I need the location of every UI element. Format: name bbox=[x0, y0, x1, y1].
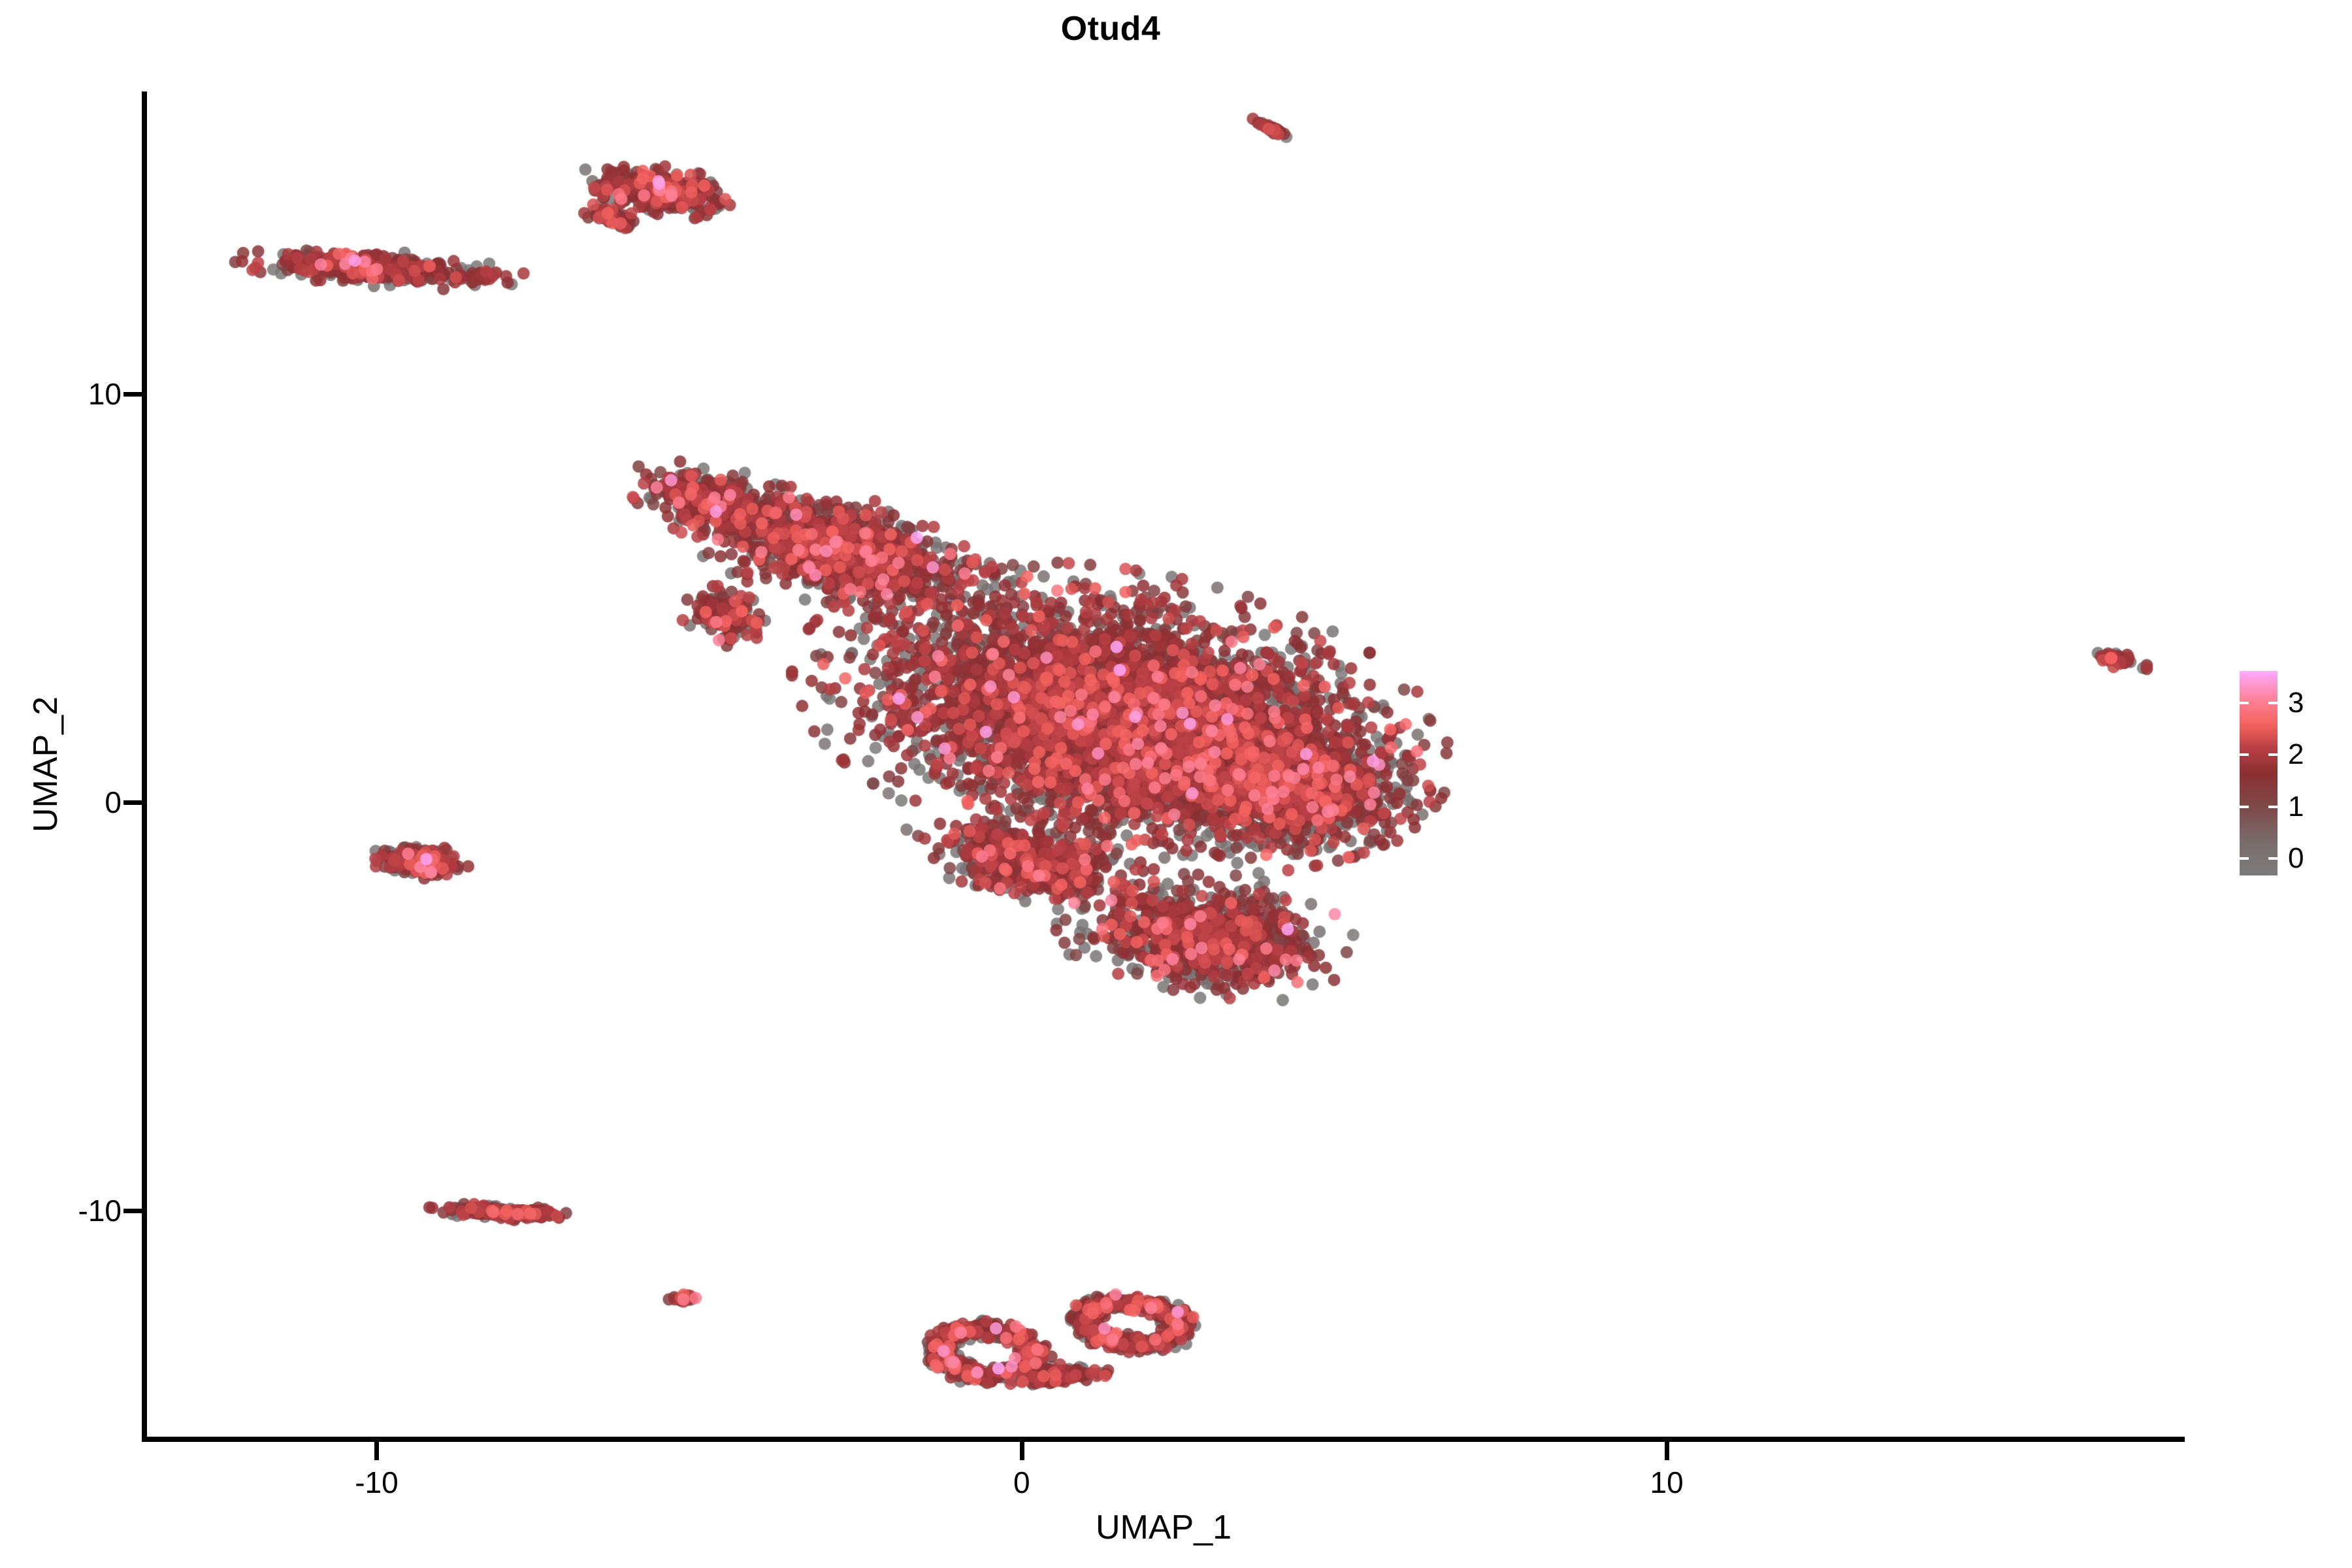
y-tick-label: 10 bbox=[88, 377, 122, 411]
colorbar-tick-mark bbox=[2240, 806, 2249, 808]
y-tick-label: 0 bbox=[105, 785, 122, 819]
scatter-points-layer bbox=[144, 91, 2183, 1439]
x-axis-line bbox=[142, 1437, 2185, 1442]
colorbar-tick-mark bbox=[2268, 857, 2278, 860]
x-tick-label: 10 bbox=[1650, 1465, 1684, 1499]
colorbar-tick-label: 0 bbox=[2288, 842, 2304, 875]
x-tick-mark bbox=[1020, 1442, 1024, 1460]
y-tick-mark bbox=[123, 800, 142, 805]
colorbar-legend: 0123 bbox=[2234, 666, 2345, 882]
y-tick-label: -10 bbox=[78, 1194, 122, 1228]
y-axis-line bbox=[142, 91, 147, 1442]
x-tick-label: 0 bbox=[1013, 1465, 1030, 1499]
colorbar-tick-mark bbox=[2268, 702, 2278, 704]
y-tick-mark bbox=[123, 1209, 142, 1213]
colorbar-tick-label: 1 bbox=[2288, 791, 2304, 823]
x-tick-mark bbox=[1665, 1442, 1669, 1460]
colorbar-tick-label: 3 bbox=[2288, 687, 2304, 719]
colorbar-tick-mark bbox=[2240, 857, 2249, 860]
colorbar-tick-mark bbox=[2240, 702, 2249, 704]
colorbar-tick-mark bbox=[2240, 753, 2249, 756]
x-tick-mark bbox=[374, 1442, 379, 1460]
umap-feature-plot: Otud4 -10010 -10010 UMAP_1 UMAP_2 0123 bbox=[0, 0, 2352, 1568]
colorbar-tick-mark bbox=[2268, 806, 2278, 808]
x-tick-label: -10 bbox=[355, 1465, 398, 1499]
plot-panel bbox=[144, 91, 2183, 1439]
colorbar-tick-label: 2 bbox=[2288, 738, 2304, 771]
x-axis-title: UMAP_1 bbox=[144, 1508, 2183, 1547]
colorbar-tick-mark bbox=[2268, 753, 2278, 756]
y-tick-mark bbox=[123, 392, 142, 397]
y-axis-title: UMAP_2 bbox=[26, 438, 65, 1091]
page-title: Otud4 bbox=[0, 9, 2221, 48]
